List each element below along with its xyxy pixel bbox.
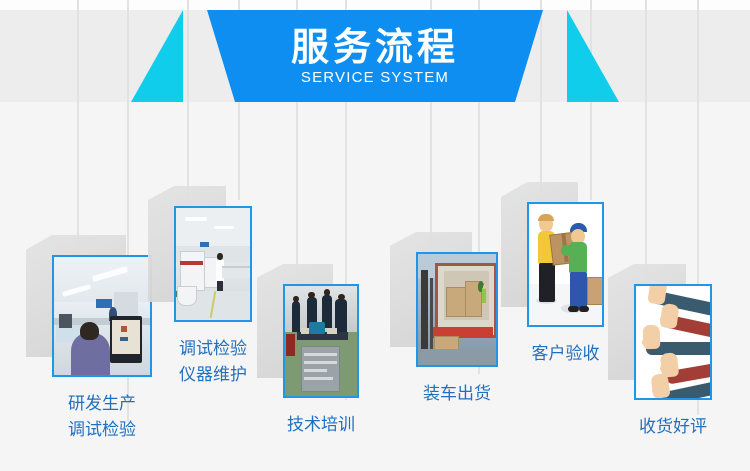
step-caption-5: 客户验收 xyxy=(532,341,600,367)
photo-red-equipment xyxy=(286,334,295,356)
photo-bench xyxy=(222,266,250,278)
step-card-5[interactable]: 客户验收 xyxy=(527,202,604,327)
step-card-6[interactable]: 收货好评 xyxy=(634,284,712,400)
photo-monitor xyxy=(110,316,143,363)
step-card-3[interactable]: 技术培训 xyxy=(283,284,359,398)
photo-panel-row xyxy=(304,377,333,381)
photo-ceiling xyxy=(176,208,250,246)
photo-forklift-mast xyxy=(421,270,428,352)
illustration-floor-package xyxy=(587,277,604,306)
illustration-person-hair xyxy=(538,214,553,221)
photo-crate xyxy=(446,287,467,318)
photo-box xyxy=(327,328,337,335)
photo-screen-icon xyxy=(120,337,128,341)
photo-screen-icon xyxy=(121,326,127,331)
illustration-courier-arm xyxy=(561,245,574,256)
page-title-cn: 服务流程 xyxy=(291,28,459,66)
step-caption-1: 研发生产 调试检验 xyxy=(68,391,136,444)
photo-worker-head xyxy=(217,253,222,260)
photo-monitor-screen xyxy=(112,320,139,354)
caption-line-1: 研发生产 xyxy=(68,391,136,417)
photo-lamp xyxy=(214,226,233,229)
banner-right-wing xyxy=(567,10,619,102)
photo-person-head xyxy=(338,294,345,301)
page-title-en: SERVICE SYSTEM xyxy=(301,70,449,85)
caption-line-2: 调试检验 xyxy=(68,417,136,443)
photo-forklift-mast xyxy=(430,278,433,349)
photo-person xyxy=(335,299,347,334)
photo-person xyxy=(292,301,300,332)
header-banner: 服务流程 SERVICE SYSTEM xyxy=(131,10,619,102)
step-photo-1 xyxy=(52,255,152,377)
photo-cabinet xyxy=(177,286,197,306)
step-card-2[interactable]: 调试检验 仪器维护 xyxy=(174,206,252,322)
illustration-person-legs xyxy=(539,263,554,302)
illustration-courier-legs xyxy=(570,272,587,308)
caption-line-1: 客户验收 xyxy=(532,341,600,367)
step-photo-2 xyxy=(174,206,252,322)
photo-tool xyxy=(309,322,325,334)
photo-ground xyxy=(418,349,496,365)
photo-person-head xyxy=(80,322,99,340)
caption-line-1: 调试检验 xyxy=(179,336,247,362)
photo-blue-sign xyxy=(200,242,209,248)
banner-left-wing xyxy=(131,10,183,102)
photo-worker xyxy=(482,288,486,303)
photo-control-panel xyxy=(301,346,340,392)
step-caption-4: 装车出货 xyxy=(423,381,491,407)
photo-box xyxy=(301,328,310,335)
step-caption-3: 技术培训 xyxy=(287,412,355,438)
photo-machine-stripe xyxy=(180,261,202,265)
step-card-4[interactable]: 装车出货 xyxy=(416,252,498,367)
photo-lamp xyxy=(185,217,207,221)
caption-line-1: 技术培训 xyxy=(287,412,355,438)
thumbs-up-thumb xyxy=(642,325,660,350)
photo-machine xyxy=(180,251,204,291)
caption-line-1: 装车出货 xyxy=(423,381,491,407)
photo-person-head xyxy=(293,296,299,303)
photo-panel-row xyxy=(304,369,326,373)
step-photo-3 xyxy=(283,284,359,398)
step-photo-6 xyxy=(634,284,712,400)
photo-panel-row xyxy=(304,353,337,357)
step-caption-2: 调试检验 仪器维护 xyxy=(179,336,247,389)
photo-sign xyxy=(96,299,111,307)
step-card-1[interactable]: 研发生产 调试检验 xyxy=(52,255,152,377)
illustration-courier-shoe xyxy=(568,306,578,312)
thumbs-up-thumb xyxy=(660,303,680,329)
banner-body: 服务流程 SERVICE SYSTEM xyxy=(175,10,575,102)
step-photo-4 xyxy=(416,252,498,367)
caption-line-1: 收货好评 xyxy=(639,414,707,440)
service-process-infographic: 服务流程 SERVICE SYSTEM 研发 xyxy=(0,0,750,471)
photo-far-monitor xyxy=(59,314,72,328)
hanging-string xyxy=(645,0,647,285)
step-photo-5 xyxy=(527,202,604,327)
caption-line-2: 仪器维护 xyxy=(179,362,247,388)
thumbs-up-thumb xyxy=(651,373,671,399)
photo-panel-row xyxy=(304,361,337,365)
step-caption-6: 收货好评 xyxy=(639,414,707,440)
illustration-courier-shoe xyxy=(579,306,589,312)
photo-person-head xyxy=(308,292,314,299)
background-top-strip xyxy=(0,0,750,10)
